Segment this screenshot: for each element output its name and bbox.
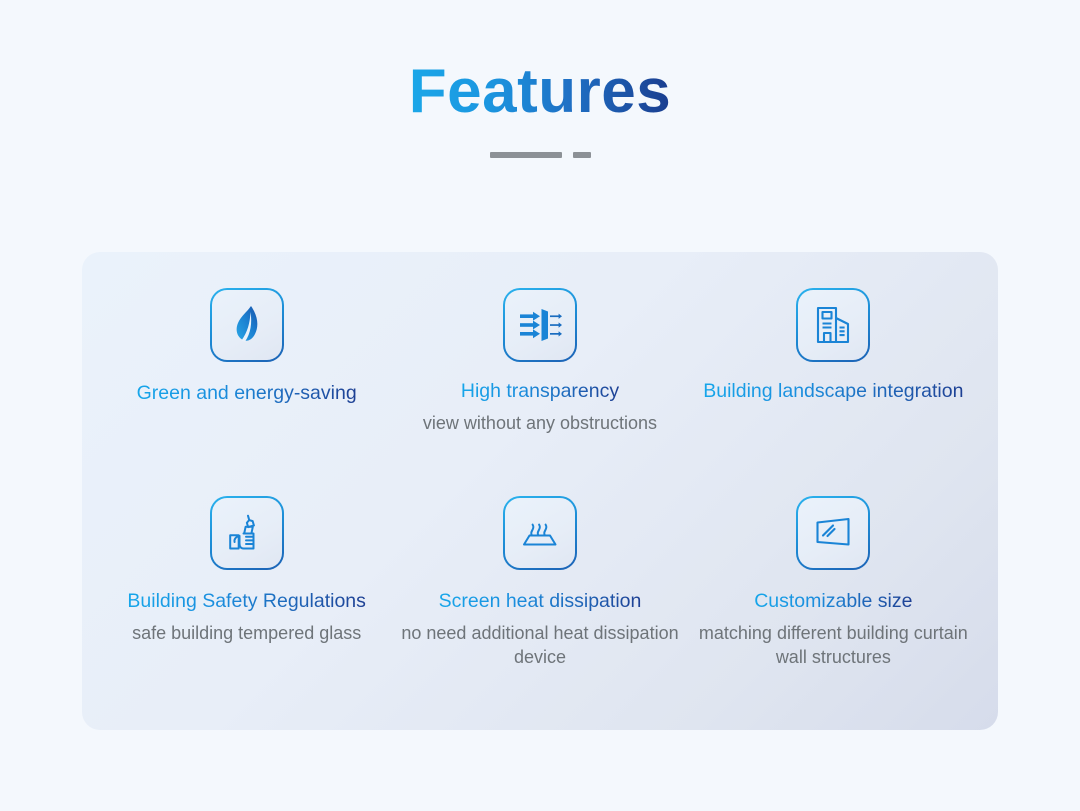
feature-item-screen-heat-dissipation[interactable]: Screen heat dissipation no need addition…	[393, 496, 686, 704]
feature-description: matching different building curtain wall…	[695, 621, 972, 671]
feature-item-building-safety-regulations[interactable]: Building Safety Regulations safe buildin…	[100, 496, 393, 704]
feature-description: safe building tempered glass	[132, 621, 361, 646]
heat-dissipation-icon	[503, 496, 577, 570]
light-transmission-icon	[503, 288, 577, 362]
feature-item-high-transparency[interactable]: High transparency view without any obstr…	[393, 288, 686, 496]
feature-description: no need additional heat dissipation devi…	[401, 621, 678, 671]
feature-item-customizable-size[interactable]: Customizable size matching different bui…	[687, 496, 980, 704]
divider-bar-long	[490, 152, 562, 158]
feature-title: Building Safety Regulations	[127, 588, 366, 615]
feature-title: Building landscape integration	[703, 378, 963, 405]
feature-item-building-landscape-integration[interactable]: Building landscape integration	[687, 288, 980, 496]
divider-bar-short	[573, 152, 591, 158]
feature-title: High transparency	[461, 378, 619, 405]
feature-title: Green and energy-saving	[137, 380, 357, 407]
feature-title: Customizable size	[754, 588, 912, 615]
feature-title: Screen heat dissipation	[439, 588, 642, 615]
feature-description: view without any obstructions	[423, 411, 657, 436]
title-divider	[0, 152, 1080, 158]
page-header: Features	[0, 0, 1080, 158]
leaf-icon	[210, 288, 284, 362]
glass-panel-icon	[796, 496, 870, 570]
buildings-icon	[796, 288, 870, 362]
hand-wrench-icon	[210, 496, 284, 570]
page-title: Features	[409, 58, 671, 126]
features-panel: Green and energy-saving	[82, 252, 998, 730]
feature-item-green-energy-saving[interactable]: Green and energy-saving	[100, 288, 393, 496]
features-grid: Green and energy-saving	[100, 288, 980, 704]
